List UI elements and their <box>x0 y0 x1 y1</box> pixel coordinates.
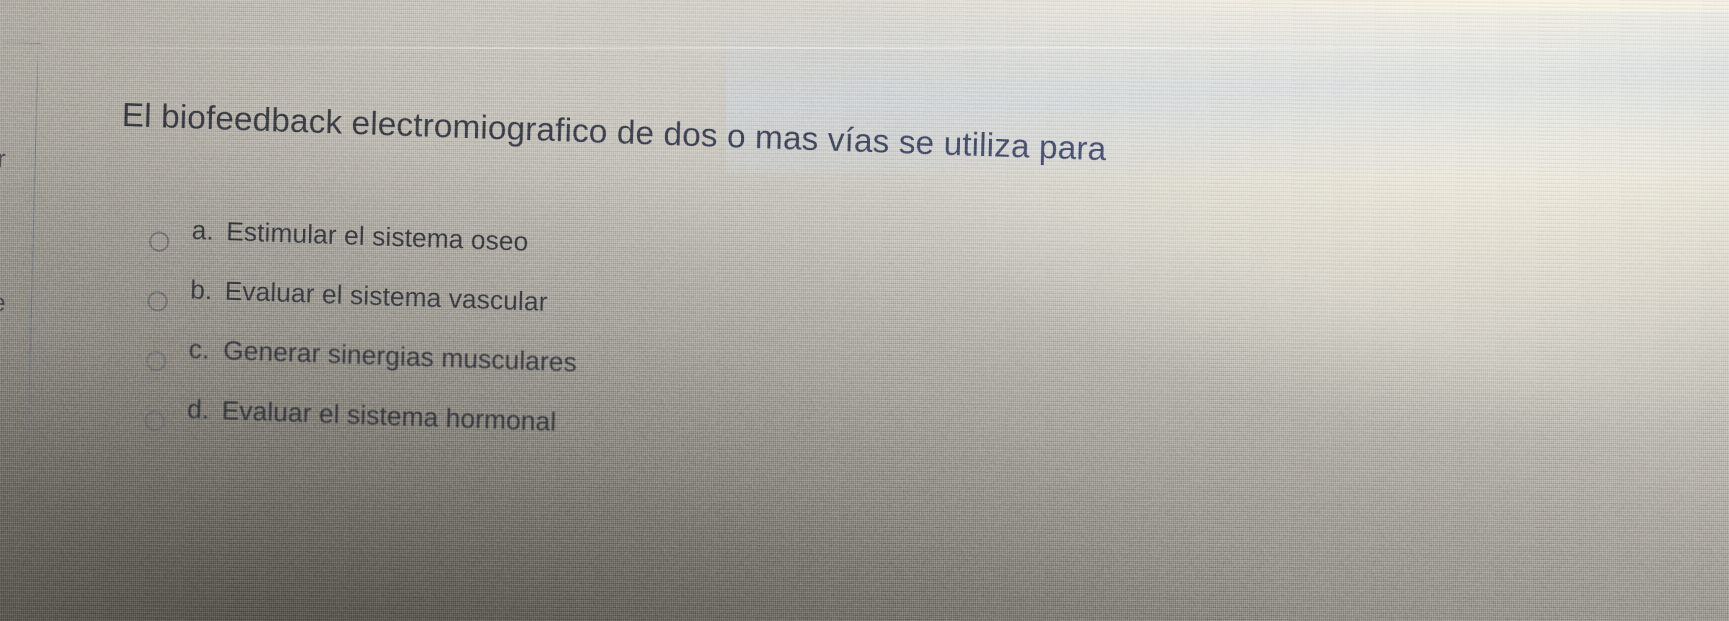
quiz-question-screenshot: r e El biofeedback electromiografico de … <box>0 0 1729 621</box>
option-letter: b. <box>190 274 225 307</box>
option-letter: c. <box>188 334 223 367</box>
radio-unchecked-icon[interactable] <box>146 350 167 371</box>
clipped-text-fragment-upper: r <box>0 147 6 173</box>
content-plane: r e El biofeedback electromiografico de … <box>0 0 1729 621</box>
radio-unchecked-icon[interactable] <box>144 410 165 431</box>
option-letter: d. <box>187 394 222 427</box>
question-card-left-border <box>27 43 39 480</box>
option-letter: a. <box>191 214 226 247</box>
question-text: El biofeedback electromiografico de dos … <box>121 95 1437 182</box>
answer-options-list: a. Estimular el sistema oseo b. Evaluar … <box>144 213 1313 492</box>
clipped-text-fragment-lower: e <box>0 291 6 317</box>
question-card-top-border <box>4 42 40 44</box>
radio-unchecked-icon[interactable] <box>147 290 168 311</box>
option-label: Estimular el sistema oseo <box>226 216 529 258</box>
radio-unchecked-icon[interactable] <box>149 231 170 252</box>
